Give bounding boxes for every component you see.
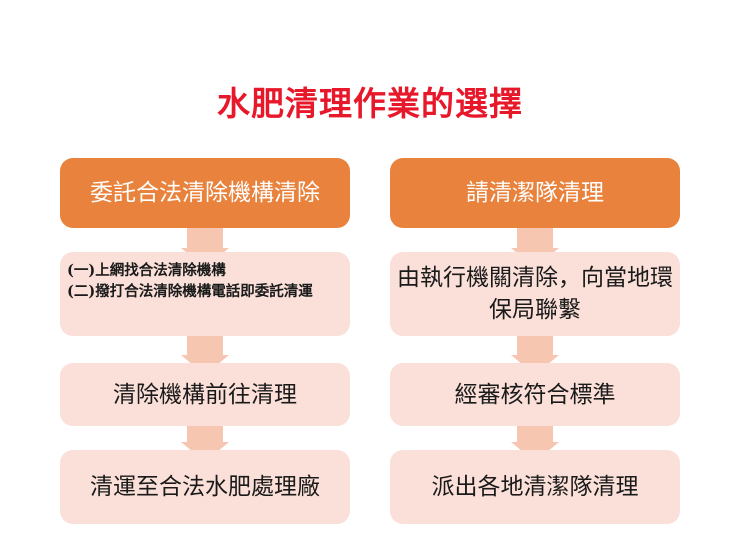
flow-step-left-3-label: 清運至合法水肥處理廠 — [60, 471, 350, 503]
flow-step-right-3[interactable]: 派出各地清潔隊清理 — [390, 450, 680, 524]
flow-header-right[interactable]: 請清潔隊清理 — [390, 158, 680, 228]
flow-step-right-1[interactable]: 由執行機關清除，向當地環保局聯繫 — [390, 252, 680, 336]
page-title: 水肥清理作業的選擇 — [0, 84, 740, 124]
flow-step-right-3-label: 派出各地清潔隊清理 — [390, 471, 680, 503]
slide-canvas: 水肥清理作業的選擇 委託合法清除機構清除 (一)上網找合法清除機構 (二)撥打合… — [0, 0, 740, 546]
flow-header-left-label: 委託合法清除機構清除 — [60, 178, 350, 208]
flow-step-right-1-label: 由執行機關清除，向當地環保局聯繫 — [390, 262, 680, 326]
flow-step-left-3[interactable]: 清運至合法水肥處理廠 — [60, 450, 350, 524]
flow-step-left-2[interactable]: 清除機構前往清理 — [60, 363, 350, 426]
flow-step-left-2-label: 清除機構前往清理 — [60, 379, 350, 411]
flow-header-right-label: 請清潔隊清理 — [390, 178, 680, 208]
flow-step-right-2[interactable]: 經審核符合標準 — [390, 363, 680, 426]
flow-step-left-1[interactable]: (一)上網找合法清除機構 (二)撥打合法清除機構電話即委託清運 — [60, 252, 350, 336]
flow-step-right-2-label: 經審核符合標準 — [390, 379, 680, 411]
flow-header-left[interactable]: 委託合法清除機構清除 — [60, 158, 350, 228]
flow-step-left-1-label: (一)上網找合法清除機構 (二)撥打合法清除機構電話即委託清運 — [67, 260, 342, 302]
